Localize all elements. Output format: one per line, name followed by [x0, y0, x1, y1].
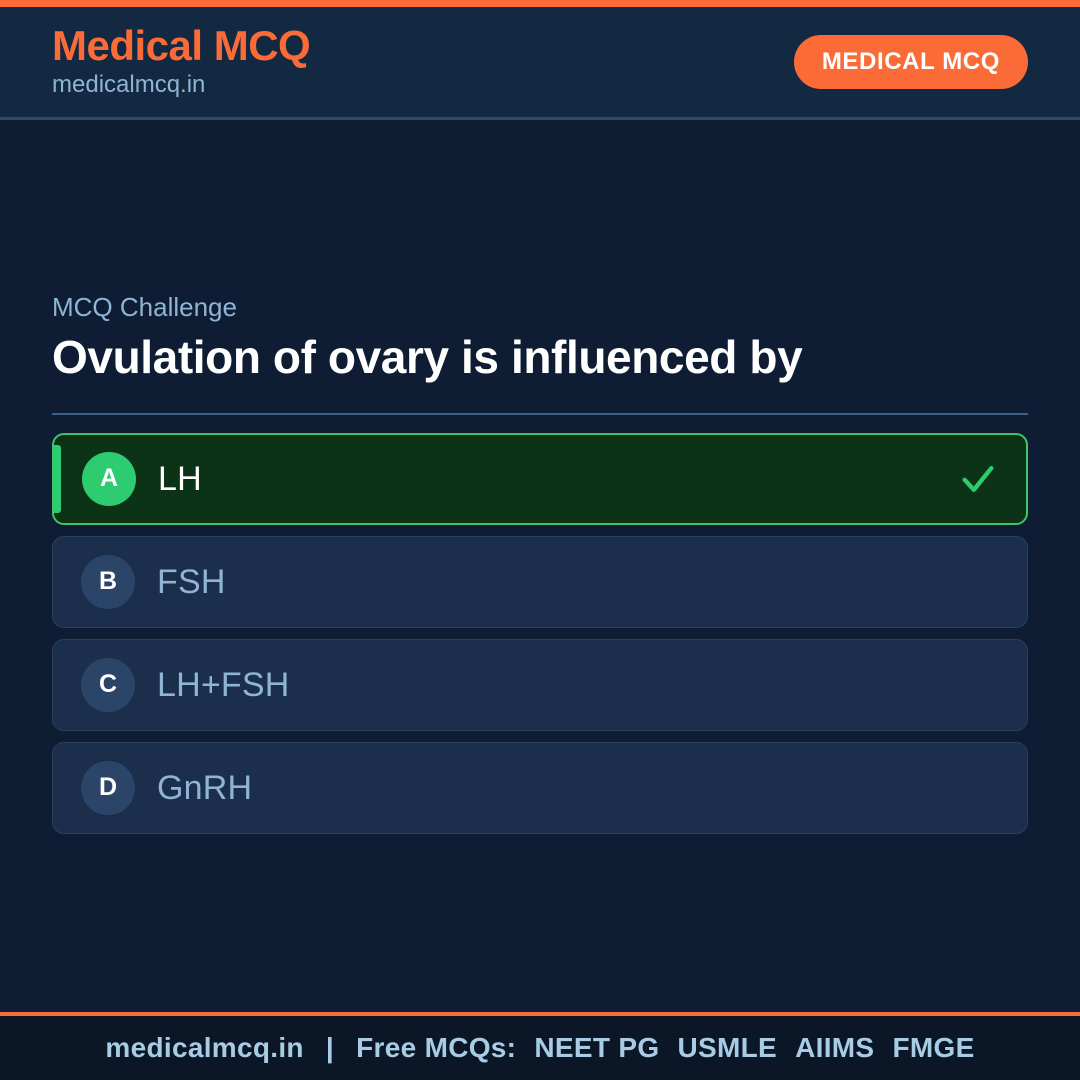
option-letter-badge: C [81, 658, 135, 712]
footer-exam-fmge: FMGE [882, 1032, 974, 1064]
option-label: LH [158, 462, 202, 496]
correct-accent-bar [54, 445, 61, 513]
option-label: LH+FSH [157, 668, 290, 702]
option-d[interactable]: D GnRH [52, 742, 1028, 834]
footer-exam-neet-pg: NEET PG [524, 1032, 659, 1064]
footer-separator: | [312, 1032, 348, 1064]
check-icon [958, 459, 998, 499]
top-accent-rule [0, 0, 1080, 7]
footer-exam-aiims: AIIMS [785, 1032, 874, 1064]
footer-text: medicalmcq.in | Free MCQs: NEET PG USMLE… [105, 1032, 974, 1064]
option-c[interactable]: C LH+FSH [52, 639, 1028, 731]
option-label: FSH [157, 565, 226, 599]
question-title: Ovulation of ovary is influenced by [52, 331, 982, 384]
page-header: Medical MCQ medicalmcq.in MEDICAL MCQ [0, 7, 1080, 120]
main-content: MCQ Challenge Ovulation of ovary is infl… [0, 120, 1080, 1012]
brand-title: Medical MCQ [52, 24, 310, 69]
brand: Medical MCQ medicalmcq.in [52, 24, 310, 101]
question-divider [52, 413, 1028, 415]
header-badge: MEDICAL MCQ [794, 35, 1028, 89]
footer-exam-usmle: USMLE [668, 1032, 778, 1064]
option-letter-badge: D [81, 761, 135, 815]
footer-site: medicalmcq.in [105, 1032, 303, 1063]
mcq-card: Medical MCQ medicalmcq.in MEDICAL MCQ MC… [0, 0, 1080, 1080]
option-letter-badge: B [81, 555, 135, 609]
option-a[interactable]: A LH [52, 433, 1028, 525]
question-eyebrow: MCQ Challenge [52, 292, 1028, 323]
option-letter-badge: A [82, 452, 136, 506]
option-label: GnRH [157, 771, 252, 805]
answer-options: A LH B FSH C LH+FSH [52, 433, 1028, 834]
footer-prefix: Free MCQs: [356, 1032, 516, 1063]
page-footer: medicalmcq.in | Free MCQs: NEET PG USMLE… [0, 1012, 1080, 1080]
brand-url: medicalmcq.in [52, 70, 310, 100]
option-b[interactable]: B FSH [52, 536, 1028, 628]
question-block: MCQ Challenge Ovulation of ovary is infl… [52, 292, 1028, 385]
